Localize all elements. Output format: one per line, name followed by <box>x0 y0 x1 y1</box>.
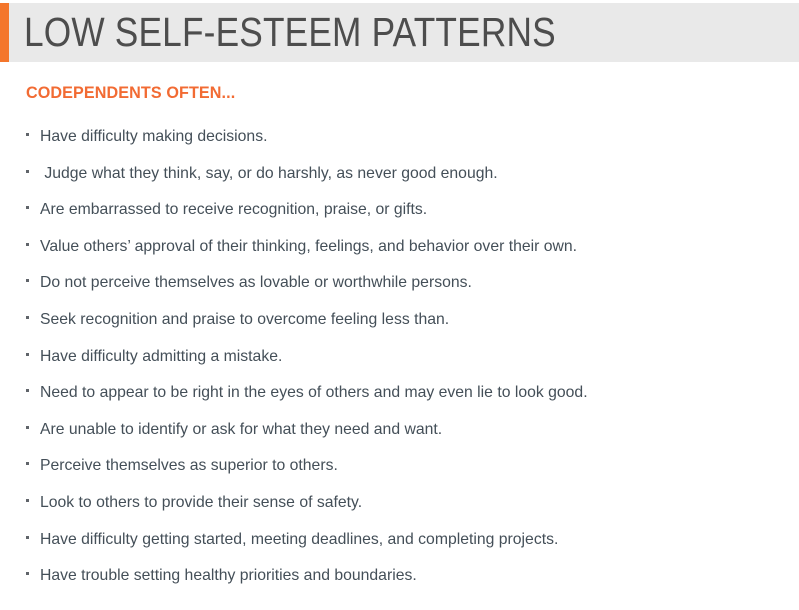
list-item-label: Seek recognition and praise to overcome … <box>40 309 449 331</box>
list-item: Value others’ approval of their thinking… <box>0 236 799 273</box>
list-item: Are unable to identify or ask for what t… <box>0 419 799 456</box>
page-title: LOW SELF-ESTEEM PATTERNS <box>24 3 556 62</box>
list-item-label: Have difficulty admitting a mistake. <box>40 346 282 368</box>
bullet-square-icon <box>26 316 29 319</box>
list-item: Perceive themselves as superior to other… <box>0 455 799 492</box>
page-header: LOW SELF-ESTEEM PATTERNS <box>0 3 799 62</box>
bullet-square-icon <box>26 426 29 429</box>
list-item: Are embarrassed to receive recognition, … <box>0 199 799 236</box>
list-item-label: Value others’ approval of their thinking… <box>40 236 577 258</box>
list-item-label: Have trouble setting healthy priorities … <box>40 565 417 587</box>
list-item: Look to others to provide their sense of… <box>0 492 799 529</box>
list-item-label: Have difficulty getting started, meeting… <box>40 529 558 551</box>
bullet-square-icon <box>26 170 29 173</box>
list-item-label: Need to appear to be right in the eyes o… <box>40 382 588 404</box>
bullet-square-icon <box>26 462 29 465</box>
section-subtitle: CODEPENDENTS OFTEN... <box>26 83 235 103</box>
list-item-label: Do not perceive themselves as lovable or… <box>40 272 472 294</box>
list-item: Judge what they think, say, or do harshl… <box>0 163 799 200</box>
bullet-square-icon <box>26 133 29 136</box>
bullet-square-icon <box>26 206 29 209</box>
list-item: Do not perceive themselves as lovable or… <box>0 272 799 309</box>
bullet-square-icon <box>26 279 29 282</box>
bullet-square-icon <box>26 499 29 502</box>
list-item: Have trouble setting healthy priorities … <box>0 565 799 602</box>
list-item: Have difficulty admitting a mistake. <box>0 346 799 383</box>
list-item-label: Perceive themselves as superior to other… <box>40 455 338 477</box>
list-item-label: Look to others to provide their sense of… <box>40 492 362 514</box>
header-accent-bar <box>0 3 9 62</box>
list-item-label: Are unable to identify or ask for what t… <box>40 419 442 441</box>
list-item: Have difficulty making decisions. <box>0 126 799 163</box>
list-item: Seek recognition and praise to overcome … <box>0 309 799 346</box>
list-item: Need to appear to be right in the eyes o… <box>0 382 799 419</box>
bullet-square-icon <box>26 536 29 539</box>
list-item-label: Have difficulty making decisions. <box>40 126 267 148</box>
bullet-square-icon <box>26 353 29 356</box>
list-item-label: Judge what they think, say, or do harshl… <box>40 163 498 185</box>
bullet-square-icon <box>26 389 29 392</box>
bullet-square-icon <box>26 572 29 575</box>
list-item: Have difficulty getting started, meeting… <box>0 529 799 566</box>
bullet-square-icon <box>26 243 29 246</box>
pattern-list: Have difficulty making decisions. Judge … <box>0 126 799 602</box>
list-item-label: Are embarrassed to receive recognition, … <box>40 199 427 221</box>
